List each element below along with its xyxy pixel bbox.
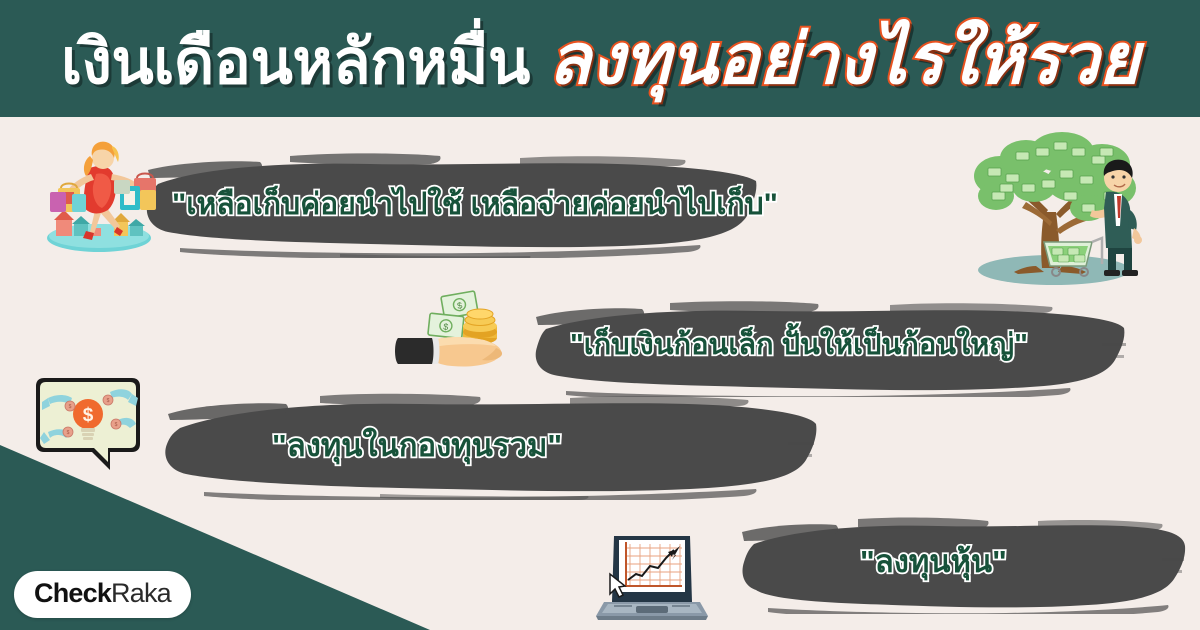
svg-text:$: $ — [107, 398, 110, 404]
quote-banner-3: "ลงทุนในกองทุนรวม" — [160, 388, 820, 500]
quote-banner-2: "เก็บเงินก้อนเล็ก ปั้นให้เป็นก้อนใหญ่" — [530, 297, 1130, 397]
shopping-woman-icon — [28, 134, 170, 256]
logo-text-secondary: Raka — [111, 578, 171, 609]
headline-primary: เงินเดือนหลักหมื่น — [61, 32, 530, 94]
svg-text:$: $ — [83, 405, 94, 426]
infographic-canvas: เงินเดือนหลักหมื่น ลงทุนอย่างไรให้รวย "เ… — [0, 0, 1200, 630]
quote-text-3: "ลงทุนในกองทุนรวม" — [272, 430, 562, 461]
quote-text-4: "ลงทุนหุ้น" — [860, 546, 1007, 577]
checkraka-logo[interactable]: Check Raka — [14, 571, 191, 618]
headline-accent: ลงทุนอย่างไรให้รวย — [548, 24, 1139, 94]
idea-bubble-icon: $ $$ $$ — [34, 370, 146, 478]
hand-with-money-icon: $ $ — [388, 286, 514, 386]
svg-text:$: $ — [67, 430, 70, 436]
money-tree-icon — [956, 130, 1152, 288]
header-banner: เงินเดือนหลักหมื่น ลงทุนอย่างไรให้รวย — [0, 0, 1200, 117]
quote-text-2: "เก็บเงินก้อนเล็ก ปั้นให้เป็นก้อนใหญ่" — [570, 331, 1028, 360]
quote-banner-4: "ลงทุนหุ้น" — [738, 514, 1188, 614]
svg-text:$: $ — [69, 404, 72, 410]
svg-text:$: $ — [115, 422, 118, 428]
quote-banner-1: "เหลือเก็บค่อยนำไปใช้ เหลือจ่ายค่อยนำไปเ… — [140, 148, 760, 258]
logo-text-primary: Check — [34, 578, 111, 609]
quote-text-1: "เหลือเก็บค่อยนำไปใช้ เหลือจ่ายค่อยนำไปเ… — [172, 190, 778, 220]
svg-text:$: $ — [443, 322, 449, 332]
laptop-chart-icon — [592, 528, 712, 624]
